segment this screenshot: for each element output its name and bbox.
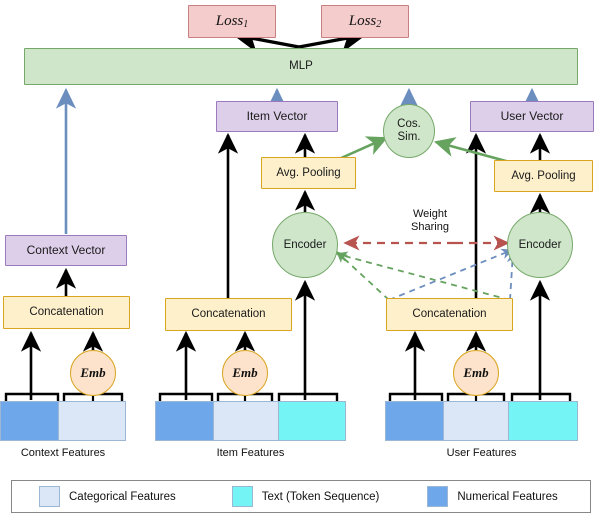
item-encoder-circle: Encoder xyxy=(272,212,338,278)
item-embedding-label: Emb xyxy=(232,366,257,381)
loss-2-subscript: 2 xyxy=(376,19,381,30)
legend-label-categorical: Categorical Features xyxy=(69,491,176,503)
legend-label-numerical: Numerical Features xyxy=(457,491,557,503)
loss-2-label: Loss xyxy=(349,13,377,30)
user-segment-numerical xyxy=(385,401,444,441)
weight-sharing-line-1: Weight xyxy=(388,208,472,221)
weight-sharing-line-2: Sharing xyxy=(388,221,472,234)
loss-1-label: Loss xyxy=(216,13,244,30)
user-segment-text xyxy=(508,401,578,441)
legend-label-text: Text (Token Sequence) xyxy=(262,491,380,503)
item-segment-categorical xyxy=(213,401,279,441)
user-encoder-label: Encoder xyxy=(519,239,562,252)
user-concatenation-box: Concatenation xyxy=(386,298,513,331)
loss-1-subscript: 1 xyxy=(243,19,248,30)
item-vector-box: Item Vector xyxy=(216,101,338,132)
green-dashed-cross-links xyxy=(337,252,510,300)
user-concatenation-label: Concatenation xyxy=(412,308,486,321)
context-concatenation-label: Concatenation xyxy=(29,306,103,319)
blue-dashed-cross-links xyxy=(389,250,513,300)
item-concatenation-box: Concatenation xyxy=(165,298,292,331)
context-features-caption: Context Features xyxy=(0,447,126,459)
user-embedding-circle: Emb xyxy=(453,350,499,396)
item-encoder-label: Encoder xyxy=(284,239,327,252)
legend-swatch-text xyxy=(232,486,253,507)
legend-item-categorical: Categorical Features xyxy=(39,486,176,507)
cosine-similarity-circle: Cos. Sim. xyxy=(383,104,435,158)
legend-panel: Categorical Features Text (Token Sequenc… xyxy=(11,480,591,513)
mlp-label: MLP xyxy=(289,60,313,73)
context-segment-numerical xyxy=(0,401,59,441)
cos-sim-line-2: Sim. xyxy=(398,131,421,144)
item-embedding-circle: Emb xyxy=(222,350,268,396)
cos-sim-line-1: Cos. xyxy=(397,118,421,131)
user-vector-box: User Vector xyxy=(470,101,594,132)
item-avg-pooling-label: Avg. Pooling xyxy=(276,167,340,180)
item-segment-numerical xyxy=(155,401,214,441)
item-avg-pooling-box: Avg. Pooling xyxy=(261,157,356,189)
user-avg-pooling-label: Avg. Pooling xyxy=(511,170,575,183)
diagram-canvas: Loss1 Loss2 MLP Context Vector Item Vect… xyxy=(0,0,602,520)
item-features-caption: Item Features xyxy=(155,447,346,459)
mlp-box: MLP xyxy=(24,48,578,85)
context-concatenation-box: Concatenation xyxy=(3,296,130,329)
item-segment-text xyxy=(278,401,346,441)
item-vector-label: Item Vector xyxy=(247,110,308,123)
user-vector-label: User Vector xyxy=(501,110,564,123)
user-avg-pooling-box: Avg. Pooling xyxy=(494,160,593,192)
user-segment-categorical xyxy=(443,401,509,441)
legend-swatch-numerical xyxy=(427,486,448,507)
weight-sharing-label: Weight Sharing xyxy=(388,208,472,234)
legend-swatch-categorical xyxy=(39,486,60,507)
context-embedding-label: Emb xyxy=(80,366,105,381)
item-concatenation-label: Concatenation xyxy=(191,308,265,321)
context-vector-label: Context Vector xyxy=(27,244,106,257)
context-embedding-circle: Emb xyxy=(70,350,116,396)
loss-2-box: Loss2 xyxy=(321,5,409,38)
context-vector-box: Context Vector xyxy=(5,235,127,266)
legend-item-text: Text (Token Sequence) xyxy=(232,486,380,507)
user-embedding-label: Emb xyxy=(463,366,488,381)
user-encoder-circle: Encoder xyxy=(507,212,573,278)
user-features-caption: User Features xyxy=(385,447,578,459)
context-segment-categorical xyxy=(58,401,126,441)
loss-1-box: Loss1 xyxy=(188,5,276,38)
legend-item-numerical: Numerical Features xyxy=(427,486,557,507)
